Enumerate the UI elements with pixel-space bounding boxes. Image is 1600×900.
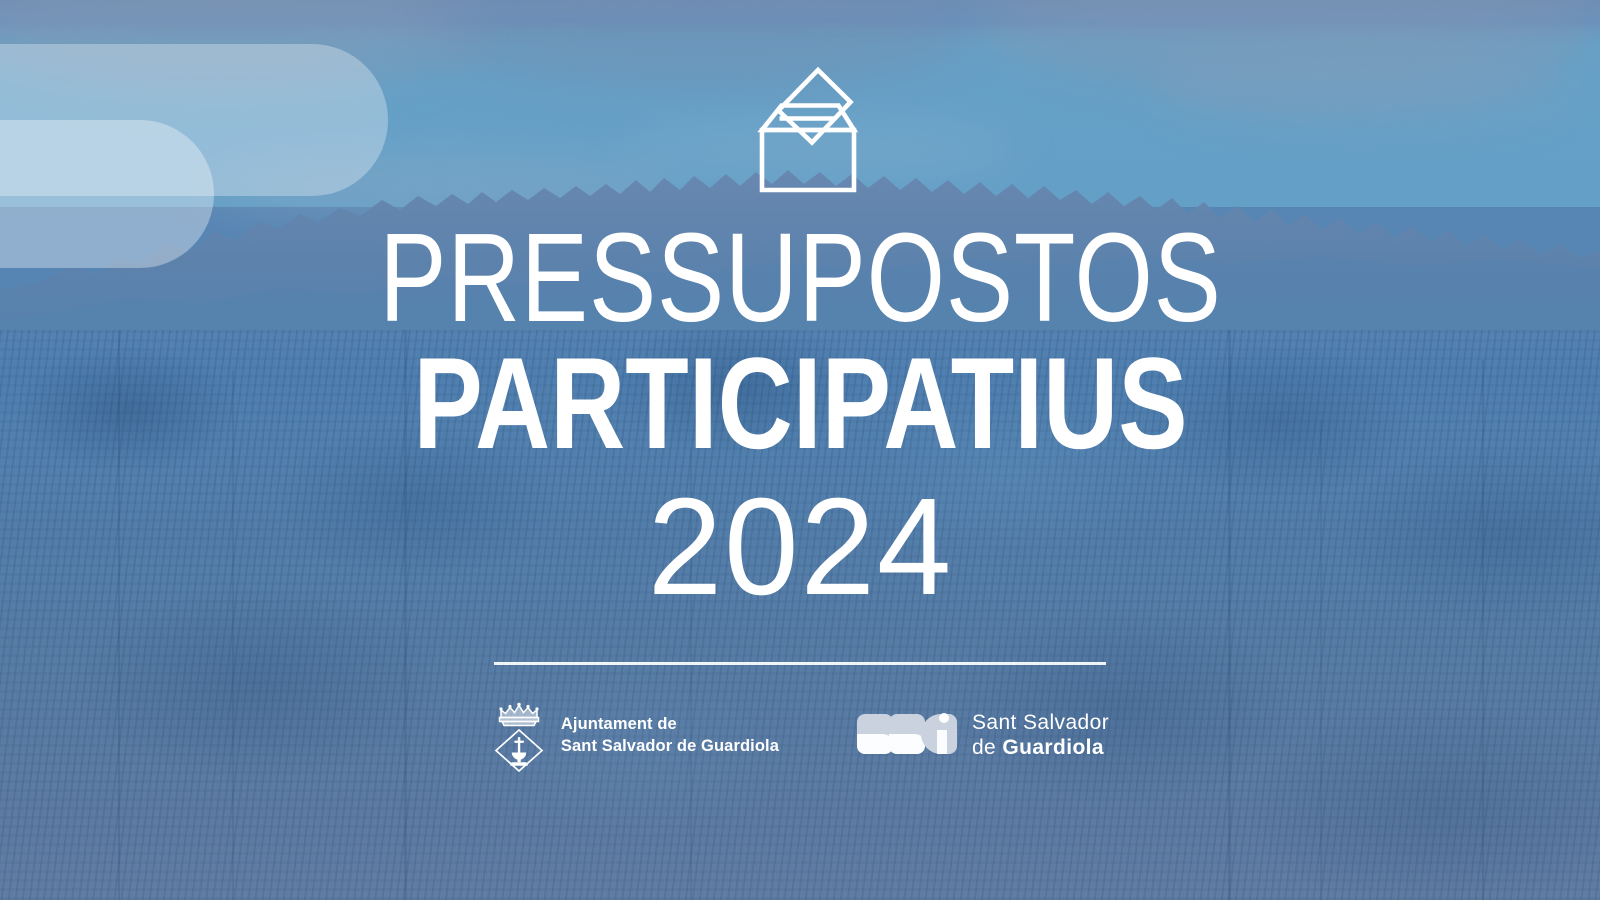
poster-canvas: PRESSUPOSTOS PARTICIPATIUS 2024 (0, 0, 1600, 900)
ajuntament-logo-text: Ajuntament de Sant Salvador de Guardiola (561, 714, 779, 756)
ajuntament-logo[interactable]: Ajuntament de Sant Salvador de Guardiola (491, 699, 779, 773)
ssg-monogram-icon (855, 712, 959, 760)
ssg-line-2: de Guardiola (972, 736, 1109, 760)
title-line-year: 2024 (289, 478, 1310, 616)
logo-row: Ajuntament de Sant Salvador de Guardiola (491, 699, 1109, 773)
crown-and-diamond-crest-icon (491, 699, 547, 773)
ajuntament-line-2: Sant Salvador de Guardiola (561, 736, 779, 757)
ballot-box-icon (738, 62, 862, 198)
ajuntament-line-1: Ajuntament de (561, 714, 779, 735)
ssg-logo[interactable]: Sant Salvador de Guardiola (855, 711, 1109, 760)
page-title: PRESSUPOSTOS PARTICIPATIUS 2024 (274, 220, 1327, 616)
poster-content: PRESSUPOSTOS PARTICIPATIUS 2024 (0, 0, 1600, 900)
title-line-pressupostos: PRESSUPOSTOS (379, 220, 1221, 336)
ssg-line-2-light: de (972, 736, 1002, 759)
title-line-participatius: PARTICIPATIUS (379, 344, 1221, 464)
ssg-logo-text: Sant Salvador de Guardiola (972, 711, 1109, 760)
divider (494, 662, 1106, 665)
ssg-line-1: Sant Salvador (972, 711, 1109, 735)
ssg-line-2-bold: Guardiola (1002, 736, 1104, 759)
